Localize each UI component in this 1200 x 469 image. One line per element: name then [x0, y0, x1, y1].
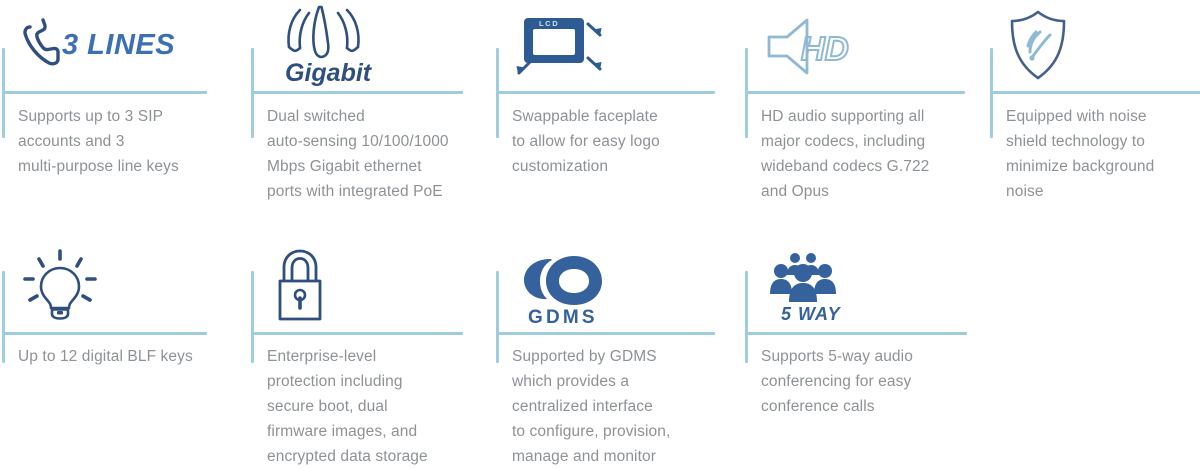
- icon-caption: HD: [801, 30, 849, 67]
- feature-card-three-lines: 3 LINES Supports up to 3 SIP accounts an…: [0, 0, 249, 222]
- feature-card-blf-keys: Up to 12 digital BLF keys: [0, 231, 249, 441]
- horizontal-divider: [251, 91, 463, 94]
- icon-caption: LCD: [539, 19, 559, 28]
- icon-caption: 3 LINES: [62, 29, 175, 61]
- icon-caption: 5 WAY: [781, 304, 842, 324]
- feature-card-gdms: GDMS Supported by GDMS which provides a …: [494, 231, 743, 441]
- gigabit-ethernet-icon: Gigabit: [267, 4, 397, 88]
- feature-description: Supports up to 3 SIP accounts and 3 mult…: [18, 104, 223, 179]
- feature-card-noise-shield: Equipped with noise shield technology to…: [988, 0, 1200, 222]
- gdms-logo-icon: GDMS: [512, 245, 622, 329]
- feature-description: Equipped with noise shield technology to…: [1006, 104, 1196, 204]
- conference-people-icon: 5 WAY: [761, 245, 853, 329]
- horizontal-divider: [496, 91, 715, 94]
- feature-description: Dual switched auto-sensing 10/100/1000 M…: [267, 104, 479, 204]
- feature-card-hd-audio: HD HD audio supporting all major codecs,…: [743, 0, 988, 222]
- icon-caption: Gigabit: [285, 59, 373, 87]
- feature-description: HD audio supporting all major codecs, in…: [761, 104, 957, 204]
- horizontal-divider: [2, 91, 207, 94]
- feature-description: Enterprise-level protection including se…: [267, 344, 479, 469]
- hd-speaker-icon: HD: [761, 4, 866, 88]
- feature-row-top: 3 LINES Supports up to 3 SIP accounts an…: [0, 0, 1200, 222]
- shield-noise-icon: [1006, 4, 1086, 88]
- feature-card-swappable-faceplate: LCD Swappable faceplate to allow for eas…: [494, 0, 743, 222]
- vertical-divider: [745, 271, 748, 363]
- vertical-divider: [496, 271, 499, 363]
- horizontal-divider: [2, 332, 207, 335]
- feature-row-spacer: [988, 231, 1200, 441]
- horizontal-divider: [990, 91, 1200, 94]
- phone-handset-3-lines-icon: 3 LINES: [18, 4, 168, 88]
- feature-card-five-way-conference: 5 WAY Supports 5-way audio conferencing …: [743, 231, 988, 441]
- vertical-divider: [251, 271, 254, 363]
- feature-description: Swappable faceplate to allow for easy lo…: [512, 104, 712, 179]
- feature-description: Up to 12 digital BLF keys: [18, 344, 223, 369]
- feature-card-gigabit: Gigabit Dual switched auto-sensing 10/10…: [249, 0, 494, 222]
- horizontal-divider: [745, 91, 965, 94]
- vertical-divider: [2, 271, 5, 363]
- padlock-icon: [267, 245, 337, 329]
- feature-row-bottom: Up to 12 digital BLF keys Enterprise-lev…: [0, 231, 1200, 441]
- icon-caption: GDMS: [528, 307, 598, 328]
- horizontal-divider: [251, 332, 463, 335]
- feature-description: Supported by GDMS which provides a centr…: [512, 344, 712, 469]
- lightbulb-icon: [18, 245, 104, 329]
- feature-grid: 3 LINES Supports up to 3 SIP accounts an…: [0, 0, 1200, 441]
- horizontal-divider: [496, 332, 715, 335]
- horizontal-divider: [745, 332, 967, 335]
- feature-card-security: Enterprise-level protection including se…: [249, 231, 494, 441]
- feature-description: Supports 5-way audio conferencing for ea…: [761, 344, 957, 419]
- lcd-faceplate-swap-icon: LCD: [512, 4, 607, 88]
